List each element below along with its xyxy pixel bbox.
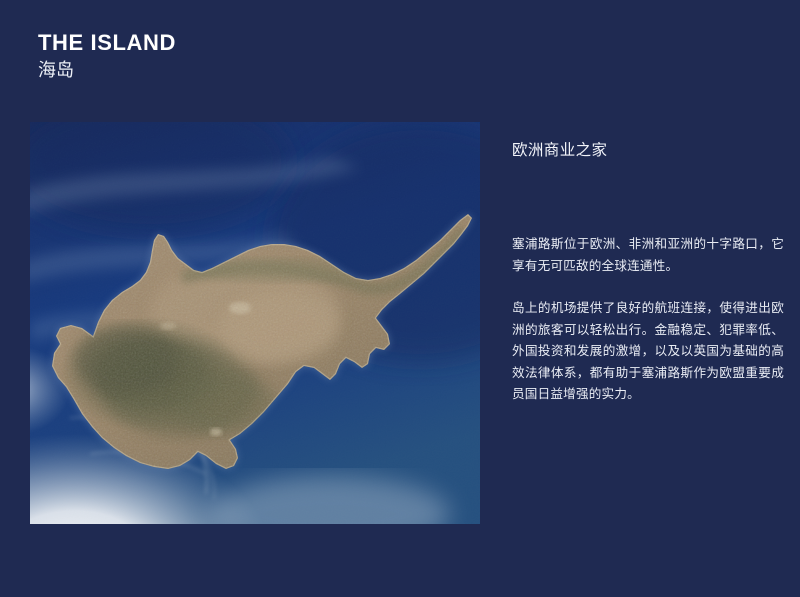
slide-root: THE ISLAND 海岛	[0, 0, 800, 597]
cyprus-satellite-illustration	[30, 122, 480, 524]
page-title-english: THE ISLAND	[38, 30, 458, 56]
content-column: 欧洲商业之家 塞浦路斯位于欧洲、非洲和亚洲的十字路口，它享有无可匹敌的全球连通性…	[512, 140, 784, 406]
image-grain	[30, 122, 480, 524]
slide-header: THE ISLAND 海岛	[38, 30, 458, 82]
body-paragraph-2: 岛上的机场提供了良好的航班连接，使得进出欧洲的旅客可以轻松出行。金融稳定、犯罪率…	[512, 298, 784, 406]
body-paragraph-1: 塞浦路斯位于欧洲、非洲和亚洲的十字路口，它享有无可匹敌的全球连通性。	[512, 234, 784, 277]
section-heading: 欧洲商业之家	[512, 140, 784, 162]
page-title-chinese: 海岛	[38, 58, 458, 82]
satellite-image-cyprus	[30, 122, 480, 524]
